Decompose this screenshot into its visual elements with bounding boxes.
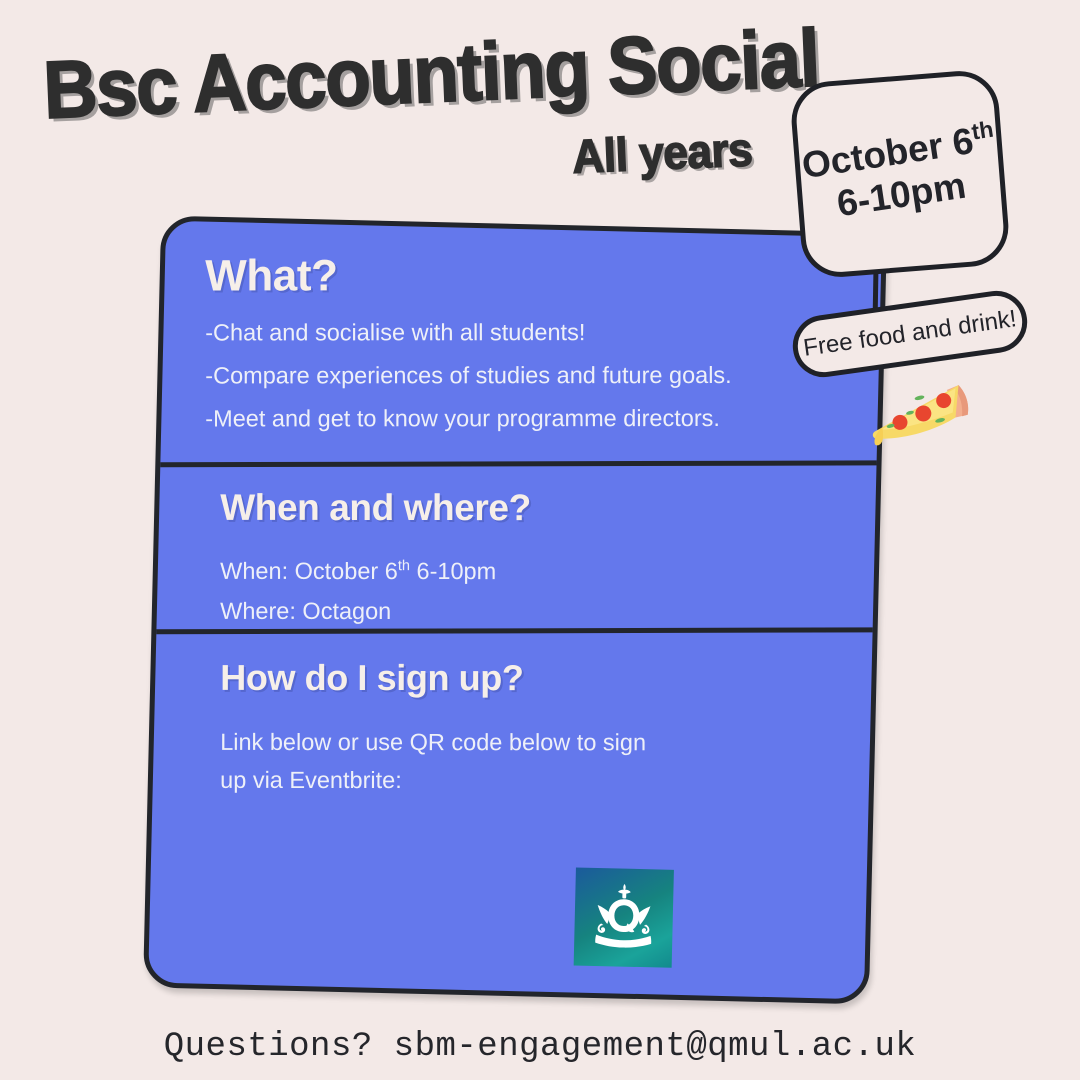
signup-line-1: Link below or use QR code below to sign (220, 723, 820, 762)
when-time: 6-10pm (410, 558, 496, 584)
pizza-slice-icon (862, 368, 980, 468)
page-title: Bsc Accounting Social (42, 23, 744, 132)
page-subtitle: All years (92, 123, 808, 200)
section-when-body: When: October 6th 6-10pm Where: Octagon (220, 551, 820, 632)
qmul-crown-logo (574, 868, 674, 968)
section-signup: How do I sign up? Link below or use QR c… (220, 657, 820, 800)
section-signup-body: Link below or use QR code below to sign … (220, 723, 820, 800)
signup-line-2: up via Eventbrite: (220, 761, 820, 800)
what-line-2: -Compare experiences of studies and futu… (205, 354, 845, 397)
section-what-heading: What? (205, 251, 845, 302)
free-food-label: Free food and drink! (802, 305, 1019, 363)
when-ordinal-suffix: th (398, 558, 410, 574)
date-badge-ordinal: th (970, 116, 995, 145)
what-line-3: -Meet and get to know your programme dir… (205, 396, 845, 439)
footer-contact: Questions? sbm-engagement@qmul.ac.uk (0, 1028, 1080, 1066)
section-when-where: When and where? When: October 6th 6-10pm… (220, 487, 820, 632)
when-line: When: October 6th 6-10pm (220, 551, 820, 592)
when-label: When: October 6 (220, 558, 398, 584)
info-card: What? -Chat and socialise with all stude… (143, 216, 887, 1005)
section-signup-heading: How do I sign up? (220, 657, 820, 700)
info-card-inner: What? -Chat and socialise with all stude… (148, 221, 882, 1000)
date-badge: October 6th 6-10pm (789, 68, 1012, 280)
section-when-heading: When and where? (220, 487, 820, 530)
section-divider-1 (150, 460, 881, 467)
title-block: Bsc Accounting Social All years (42, 20, 808, 202)
poster-canvas: Bsc Accounting Social All years What? -C… (0, 0, 1080, 1080)
section-what-body: -Chat and socialise with all students! -… (205, 311, 845, 440)
where-line: Where: Octagon (220, 591, 820, 632)
what-line-1: -Chat and socialise with all students! (205, 311, 845, 354)
section-what: What? -Chat and socialise with all stude… (205, 251, 845, 440)
